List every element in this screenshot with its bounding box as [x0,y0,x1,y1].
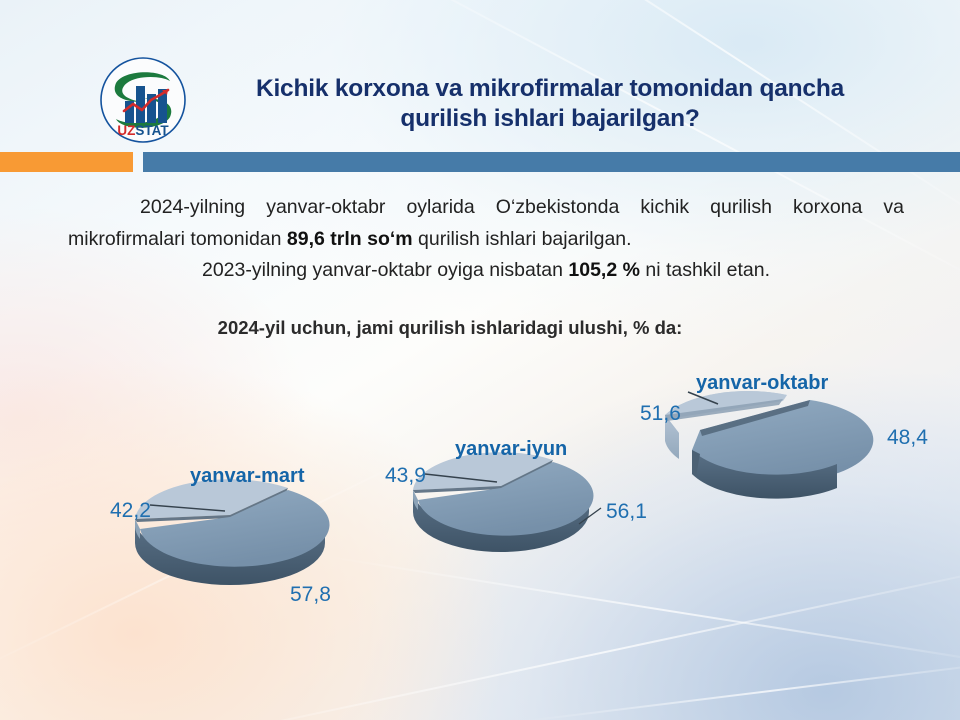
pie-label-yanvar-oktabr-light: 51,6 [640,402,681,426]
logo-stat-text: STAT [135,123,169,138]
pie-chart-yanvar-iyun: yanvar-iyun 43,9 56,1 [385,432,635,597]
body-line-1-b: qurilish ishlari bajarilgan. [413,228,632,250]
pie-label-yanvar-mart-main: 57,8 [290,583,331,607]
uzstat-logo: UZSTAT [98,55,188,145]
background-streak [522,660,960,720]
pie-chart-yanvar-oktabr: yanvar-oktabr 51,6 48,4 [640,368,940,533]
pie-title-yanvar-oktabr: yanvar-oktabr [696,372,828,395]
pie-chart-yanvar-mart: yanvar-mart 42,2 57,8 [110,455,370,620]
title-line-1: Kichik korxona va mikrofirmalar tomonida… [195,74,905,104]
logo-uz-text: UZ [117,123,135,138]
pie-label-yanvar-oktabr-main: 48,4 [887,426,928,450]
body-line-2: 2023-yilning yanvar-oktabr oyiga nisbata… [68,255,904,287]
body-value-sum: 89,6 trln so‘m [287,228,413,250]
accent-bar-orange [0,152,133,172]
pie-label-yanvar-iyun-light: 43,9 [385,464,426,488]
title-line-2: qurilish ishlari bajarilgan? [195,104,905,134]
pie-label-yanvar-mart-light: 42,2 [110,499,151,523]
body-paragraph: 2024-yilning yanvar-oktabr oylarida O‘zb… [68,192,904,287]
slide-root: UZSTAT Kichik korxona va mikrofirmalar t… [0,0,960,720]
pie-title-yanvar-iyun: yanvar-iyun [455,438,567,461]
page-title: Kichik korxona va mikrofirmalar tomonida… [195,74,905,135]
svg-text:UZSTAT: UZSTAT [117,123,169,138]
pie-title-yanvar-mart: yanvar-mart [190,465,305,488]
body-line-1: 2024-yilning yanvar-oktabr oylarida O‘zb… [68,192,904,255]
body-line-2-b: ni tashkil etan. [640,259,770,281]
logo-icon: UZSTAT [98,55,188,145]
body-value-percent: 105,2 % [568,259,640,281]
body-line-2-a: 2023-yilning yanvar-oktabr oyiga nisbata… [202,259,568,281]
chart-subtitle: 2024-yil uchun, jami qurilish ishlaridag… [100,317,800,339]
accent-bar-blue [143,152,960,172]
